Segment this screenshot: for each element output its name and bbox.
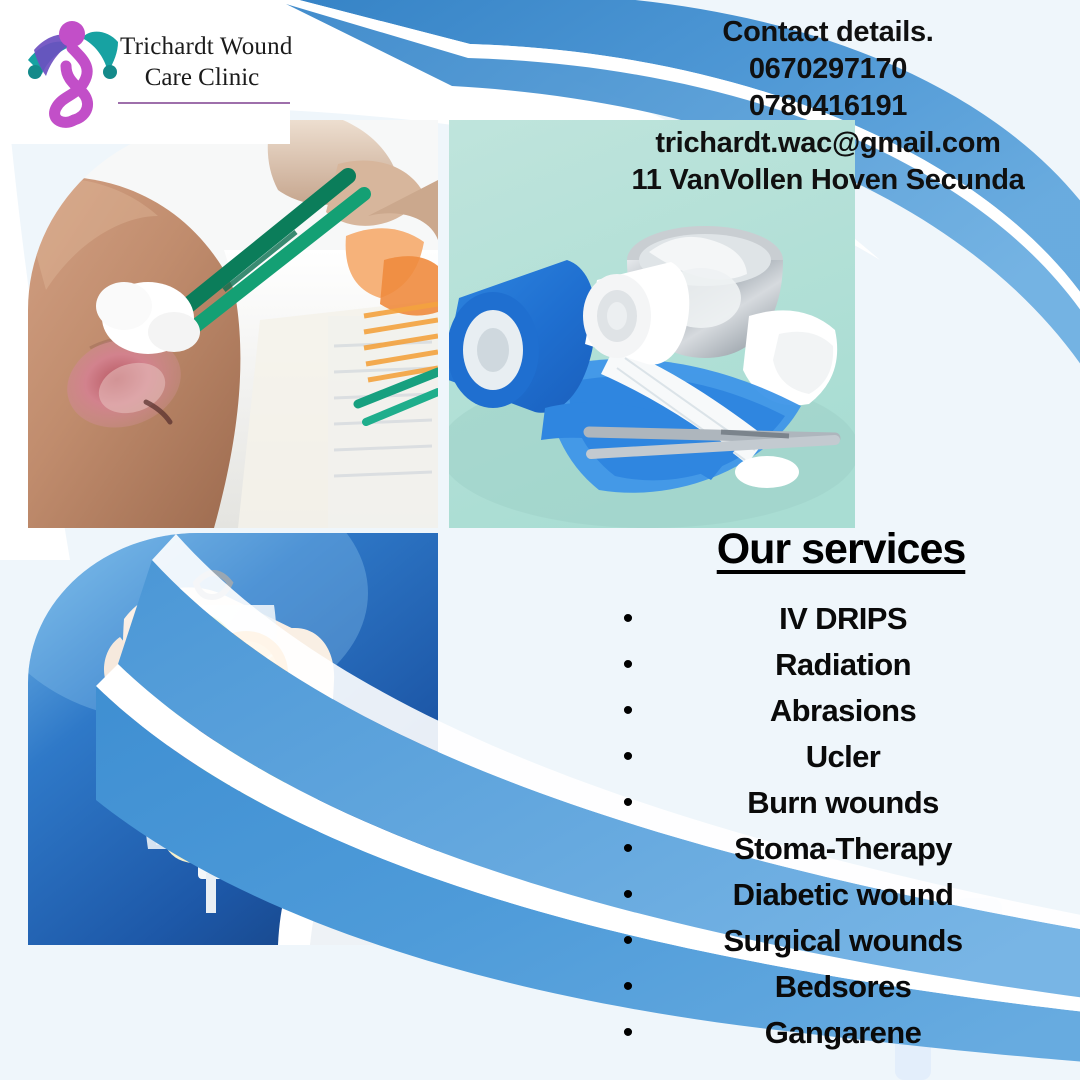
bullet-icon: • [600,788,656,818]
brand-logo-text: Trichardt Wound Care Clinic [120,32,290,93]
service-item[interactable]: • Bedsores [600,964,1068,1010]
logo-underline-rule [118,102,290,104]
contact-details-block: Contact details. 0670297170 0780416191 t… [618,14,1038,200]
brand-name-line1: Trichardt Wound [120,32,290,63]
bullet-icon: • [600,926,656,956]
bullet-icon: • [600,650,656,680]
service-label: IV DRIPS [656,601,1068,637]
bullet-icon: • [600,834,656,864]
contact-address: 11 VanVollen Hoven Secunda [618,162,1038,199]
bullet-icon: • [600,880,656,910]
poster-canvas: Trichardt Wound Care Clinic Contact deta… [0,0,1080,1080]
bullet-icon: • [600,1018,656,1048]
services-list: • IV DRIPS • Radiation • Abrasions • Ucl… [600,596,1068,1056]
service-label: Radiation [656,647,1068,683]
bullet-icon: • [600,742,656,772]
service-item[interactable]: • Diabetic wound [600,872,1068,918]
service-item[interactable]: • Abrasions [600,688,1068,734]
service-item[interactable]: • Radiation [600,642,1068,688]
services-heading: Our services [600,525,1068,574]
service-item[interactable]: • Gangarene [600,1010,1068,1056]
service-label: Diabetic wound [656,877,1068,913]
bullet-icon: • [600,604,656,634]
people-wellness-logo-icon [22,16,126,128]
service-label: Ucler [656,739,1068,775]
service-item[interactable]: • Ucler [600,734,1068,780]
contact-phone-secondary[interactable]: 0780416191 [618,88,1038,125]
service-label: Burn wounds [656,785,1068,821]
contact-email[interactable]: trichardt.wac@gmail.com [618,125,1038,162]
brand-logo-card: Trichardt Wound Care Clinic [8,6,290,144]
service-label: Abrasions [656,693,1068,729]
services-heading-text: Our services [717,525,966,573]
service-item[interactable]: • Surgical wounds [600,918,1068,964]
contact-phone-primary[interactable]: 0670297170 [618,51,1038,88]
service-label: Bedsores [656,969,1068,1005]
service-item[interactable]: • Burn wounds [600,780,1068,826]
services-section: Our services • IV DRIPS • Radiation • Ab… [600,525,1068,1056]
brand-name-line2: Care Clinic [120,63,290,94]
service-label: Stoma-Therapy [656,831,1068,867]
bullet-icon: • [600,696,656,726]
bullet-icon: • [600,972,656,1002]
contact-title: Contact details. [618,14,1038,51]
service-label: Gangarene [656,1015,1068,1051]
service-label: Surgical wounds [656,923,1068,959]
wound-cleaning-photo [28,120,438,528]
service-item[interactable]: • IV DRIPS [600,596,1068,642]
iv-drip-photo [28,533,438,945]
service-item[interactable]: • Stoma-Therapy [600,826,1068,872]
